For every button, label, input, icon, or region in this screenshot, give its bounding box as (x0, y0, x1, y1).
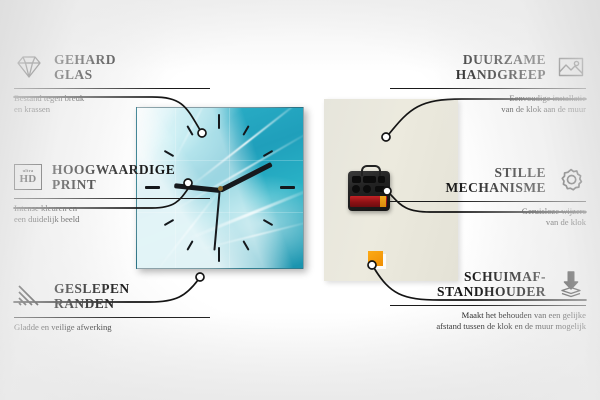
feature-divider (14, 317, 210, 318)
feature-description: Intense kleuren en een duidelijk beeld (14, 203, 210, 224)
picture-frame-icon (556, 54, 586, 80)
feature-header: DUURZAME HANDGREEP (390, 50, 586, 84)
feature-duurzame-handgreep: DUURZAME HANDGREEP Eenvoudige installati… (390, 50, 586, 114)
feature-divider (14, 198, 210, 199)
feature-header: SCHUIMAF- STANDHOUDER (390, 267, 586, 301)
ultra-hd-icon: ultra HD (14, 164, 42, 190)
feature-divider (390, 201, 586, 202)
feature-divider (14, 88, 210, 89)
diamond-icon (14, 54, 44, 80)
down-arrow-stack-icon (556, 270, 586, 298)
foam-spacer (368, 251, 383, 266)
battery (350, 196, 387, 207)
feature-gehard-glas: GEHARD GLAS Bestand tegen breuk en krass… (14, 50, 210, 114)
feature-title: GESLEPEN RANDEN (54, 281, 130, 311)
clock-pivot (218, 186, 223, 191)
feature-description: Maakt het behouden van een gelijke afsta… (390, 310, 586, 331)
feature-geslepen-randen: GESLEPEN RANDEN Gladde en veilige afwerk… (14, 279, 210, 333)
feature-description: Geruisloze wijzers van de klok (390, 206, 586, 227)
feature-title: STILLE MECHANISME (445, 165, 546, 195)
feature-header: STILLE MECHANISME (390, 163, 586, 197)
feature-header: ultra HD HOOGWAARDIGE PRINT (14, 160, 210, 194)
feature-title: HOOGWAARDIGE PRINT (52, 162, 175, 192)
ultra-hd-icon-main: HD (20, 174, 37, 185)
beveled-edges-icon (14, 283, 44, 309)
feature-description: Eenvoudige installatie van de klok aan d… (390, 93, 586, 114)
infographic-canvas: GEHARD GLAS Bestand tegen breuk en krass… (0, 0, 600, 400)
feature-stille-mechanisme: STILLE MECHANISME Geruisloze wijzers van… (390, 163, 586, 227)
feature-description: Gladde en veilige afwerking (14, 322, 210, 333)
feature-description: Bestand tegen breuk en krassen (14, 93, 210, 114)
feature-header: GESLEPEN RANDEN (14, 279, 210, 313)
feature-title: DUURZAME HANDGREEP (456, 52, 546, 82)
feature-header: GEHARD GLAS (14, 50, 210, 84)
feature-title: SCHUIMAF- STANDHOUDER (437, 269, 546, 299)
clock-movement (348, 171, 390, 211)
feature-divider (390, 88, 586, 89)
feature-hoogwaardige-print: ultra HD HOOGWAARDIGE PRINT Intense kleu… (14, 160, 210, 224)
hanger-icon (361, 165, 381, 176)
feature-divider (390, 305, 586, 306)
gear-icon (556, 167, 586, 193)
feature-title: GEHARD GLAS (54, 52, 116, 82)
feature-schuimafstandhouder: SCHUIMAF- STANDHOUDER Maakt het behouden… (390, 267, 586, 331)
